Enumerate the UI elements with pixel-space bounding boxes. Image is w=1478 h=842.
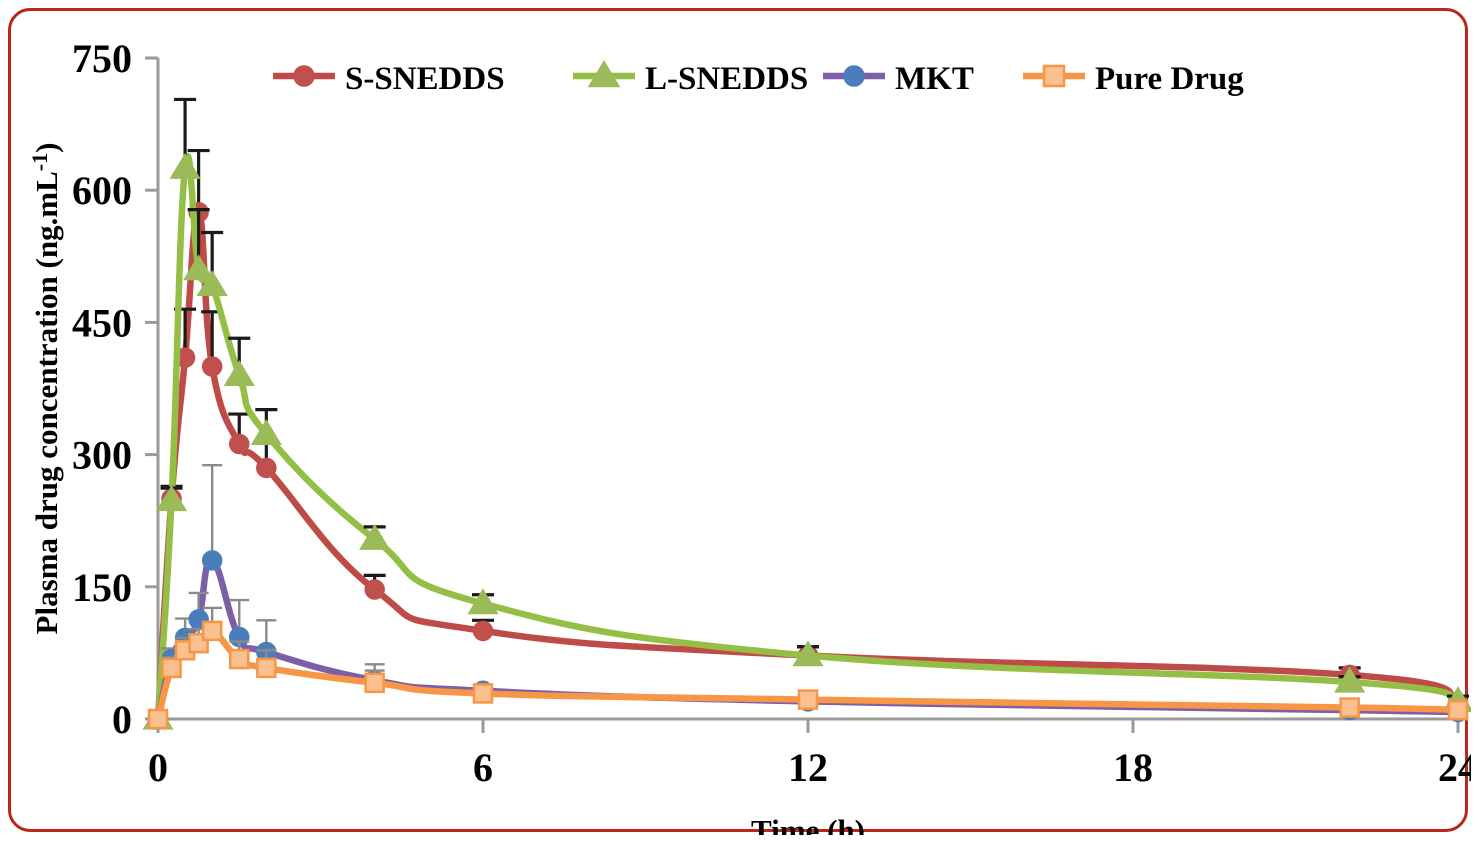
- x-axis-tick-label: 12: [788, 745, 828, 790]
- data-point-square-marker: [799, 691, 817, 709]
- chart-container: S-SNEDDSL-SNEDDSMKTPure Drug 01503004506…: [11, 11, 1471, 835]
- x-axis-tick-label: 18: [1113, 745, 1153, 790]
- series-mkt: [149, 465, 1468, 728]
- legend-item-l-snedds[interactable]: L-SNEDDS: [573, 61, 808, 97]
- data-point-circle-marker: [365, 580, 384, 599]
- x-axis-tick-label: 6: [473, 745, 493, 790]
- error-bar: [202, 465, 222, 560]
- y-axis-tick-label: 150: [72, 565, 132, 610]
- data-point-square-marker: [366, 674, 384, 692]
- y-axis-title: Plasma drug concentration (ng.mL-1): [27, 143, 64, 635]
- legend-label: L-SNEDDS: [645, 61, 808, 97]
- chart-series-layer: [144, 99, 1471, 728]
- data-point-square-marker: [230, 650, 248, 668]
- y-axis-tick-label: 600: [72, 168, 132, 213]
- y-axis-tick-label: 450: [72, 300, 132, 345]
- legend-label: MKT: [895, 61, 974, 97]
- figure-border: S-SNEDDSL-SNEDDSMKTPure Drug 01503004506…: [8, 8, 1468, 832]
- chart-legend: S-SNEDDSL-SNEDDSMKTPure Drug: [273, 61, 1244, 97]
- chart-axis-titles: Time (h)Plasma drug concentration (ng.mL…: [27, 143, 865, 835]
- svg-text:Plasma drug concentration (ng.: Plasma drug concentration (ng.mL-1): [27, 143, 64, 635]
- data-point-circle-marker: [474, 621, 493, 640]
- y-axis-tick-label: 750: [72, 36, 132, 81]
- data-point-square-marker: [474, 684, 492, 702]
- data-point-square-marker: [1341, 699, 1359, 717]
- y-axis-tick-label: 0: [112, 697, 132, 742]
- y-axis-tick-label: 300: [72, 433, 132, 478]
- legend-marker-circle-marker: [294, 66, 314, 86]
- series-line: [158, 156, 1458, 719]
- legend-marker-circle-marker: [844, 66, 864, 86]
- data-point-triangle-marker: [171, 154, 200, 178]
- data-point-circle-marker: [203, 551, 222, 570]
- x-axis-tick-label: 0: [148, 745, 168, 790]
- data-point-square-marker: [1449, 701, 1467, 719]
- legend-item-pure-drug[interactable]: Pure Drug: [1023, 61, 1244, 97]
- legend-label: Pure Drug: [1095, 61, 1244, 97]
- x-axis-title: Time (h): [751, 813, 865, 835]
- data-point-square-marker: [257, 659, 275, 677]
- data-point-square-marker: [203, 622, 221, 640]
- data-point-triangle-marker: [225, 362, 254, 386]
- legend-item-s-snedds[interactable]: S-SNEDDS: [273, 61, 505, 97]
- x-axis-tick-label: 24: [1438, 745, 1471, 790]
- legend-label: S-SNEDDS: [345, 61, 505, 97]
- pharmacokinetic-line-chart: S-SNEDDSL-SNEDDSMKTPure Drug 01503004506…: [11, 11, 1471, 835]
- data-point-circle-marker: [257, 458, 276, 477]
- data-point-square-marker: [163, 659, 181, 677]
- data-point-square-marker: [149, 710, 167, 728]
- series-l-snedds: [144, 99, 1471, 728]
- data-point-circle-marker: [230, 435, 249, 454]
- legend-item-mkt[interactable]: MKT: [823, 61, 974, 97]
- legend-marker-square-marker: [1044, 66, 1064, 86]
- data-point-circle-marker: [203, 357, 222, 376]
